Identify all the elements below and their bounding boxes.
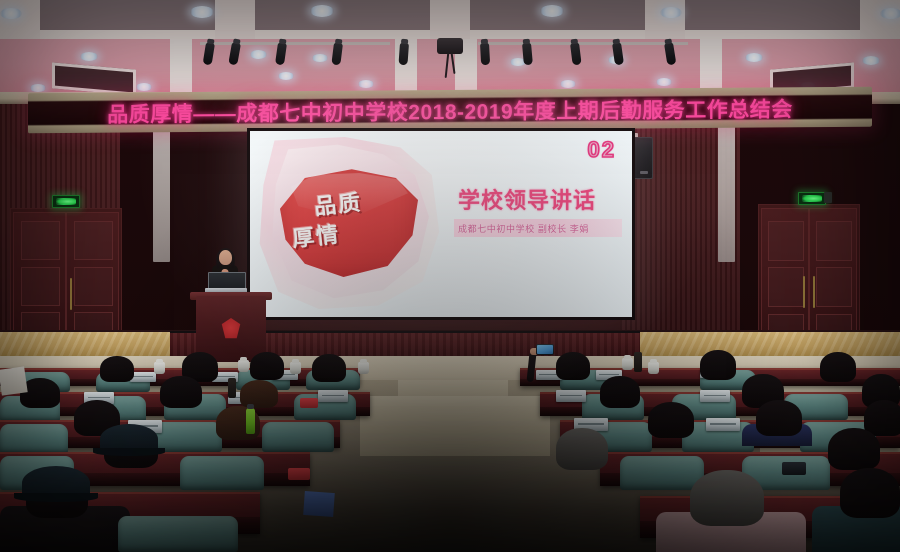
spotlight	[480, 43, 490, 65]
green-thermos	[246, 408, 255, 434]
name-plate	[556, 390, 586, 402]
downlight	[862, 56, 880, 65]
white-teacup	[290, 362, 301, 374]
spotlight	[522, 43, 533, 66]
audience-member	[840, 468, 900, 518]
speaker-logo	[640, 171, 648, 174]
door-panel	[74, 267, 112, 306]
downlight	[880, 8, 900, 19]
slide-subtitle: 成都七中初中学校 副校长 李娟	[458, 222, 624, 235]
white-teacup	[622, 358, 633, 370]
seat[interactable]	[118, 516, 238, 552]
spotlight	[664, 42, 676, 65]
spotlight	[203, 42, 215, 65]
seat[interactable]	[620, 456, 704, 490]
seat[interactable]	[262, 422, 334, 452]
phone-screen	[537, 345, 553, 354]
audience-member	[864, 400, 900, 436]
audience-member	[600, 376, 640, 408]
audience-member	[700, 350, 736, 380]
audience-member	[648, 402, 694, 438]
exit-sign-right	[798, 192, 826, 205]
door-handle[interactable]	[813, 276, 815, 308]
downlight	[310, 5, 334, 17]
stage-marble-panel	[0, 332, 175, 358]
slide-title: 学校领导讲话	[458, 183, 618, 215]
downlight	[358, 80, 374, 88]
downlight	[80, 52, 98, 61]
audience-member	[240, 380, 278, 408]
audience-member	[160, 376, 202, 408]
door-panel	[816, 221, 851, 261]
ceiling-coffer	[255, 0, 430, 30]
running-man-icon	[802, 195, 822, 202]
wall-light-strip	[153, 120, 170, 262]
name-plate	[318, 390, 348, 402]
door-handle[interactable]	[70, 278, 72, 309]
name-plate	[700, 390, 730, 402]
spotlight	[398, 43, 409, 66]
school-crest-icon	[220, 318, 242, 340]
presenter-head	[219, 250, 232, 265]
spotlight	[275, 42, 287, 65]
audience-member	[556, 428, 608, 470]
ceiling-vent	[52, 62, 136, 92]
door-panel	[816, 267, 851, 307]
downlight	[250, 50, 267, 59]
led-banner: 品质厚情——成都七中初中学校2018-2019年度上期后勤服务工作总结会	[28, 87, 872, 134]
downlight	[540, 5, 564, 17]
handout-paper	[0, 366, 28, 395]
door-panel	[74, 221, 112, 260]
phone-on-desk[interactable]	[288, 468, 310, 480]
downlight	[136, 83, 152, 91]
audience-member	[556, 352, 590, 380]
handout-paper	[303, 491, 335, 517]
downlight	[0, 8, 22, 19]
white-teacup	[358, 362, 369, 374]
door-panel	[768, 221, 803, 261]
water-bottle	[228, 378, 236, 398]
downlight	[312, 54, 328, 62]
ceiling-coffer	[685, 0, 860, 30]
auditorium-scene: 品质厚情——成都七中初中学校2018-2019年度上期后勤服务工作总结会 品质 …	[0, 0, 900, 552]
exit-sign-housing	[824, 192, 832, 203]
white-teacup	[154, 362, 165, 374]
seat[interactable]	[180, 456, 264, 490]
uniform-cap	[22, 466, 90, 500]
stage-marble-panel	[635, 332, 900, 358]
audience-member	[100, 356, 134, 382]
phone-on-desk[interactable]	[300, 398, 318, 408]
graphic-text-line2: 厚情	[290, 217, 341, 254]
slide-number: 02	[588, 137, 616, 163]
running-man-icon	[56, 198, 76, 205]
audience-member	[690, 470, 764, 526]
name-plate	[706, 418, 740, 431]
audience-member	[820, 352, 856, 382]
downlight	[278, 72, 294, 80]
spotlight	[331, 42, 343, 65]
downlight	[560, 80, 576, 88]
door-panel	[21, 221, 59, 260]
wall-light-strip	[718, 120, 735, 262]
ceiling-beam	[645, 0, 685, 39]
uniform-cap	[100, 424, 158, 454]
spotlight	[228, 42, 241, 65]
projection-screen: 品质 厚情 02 学校领导讲话 成都七中初中学校 副校长 李娟	[250, 131, 632, 317]
slide-torn-paper-graphic: 品质 厚情	[256, 137, 441, 309]
projector-cable	[445, 52, 450, 78]
seat[interactable]	[0, 424, 68, 454]
downlight	[660, 7, 682, 18]
exit-sign-left	[52, 195, 80, 208]
water-bottle	[634, 352, 642, 372]
ceiling-beam	[860, 0, 900, 39]
lighting-track	[478, 42, 688, 45]
audience-member	[250, 352, 284, 380]
lighting-track	[200, 42, 390, 45]
ceiling-beam	[215, 0, 255, 39]
ceiling-beam	[700, 39, 722, 92]
white-teacup	[238, 360, 249, 372]
center-aisle	[360, 396, 550, 456]
white-teacup	[648, 362, 659, 374]
audience-member	[756, 400, 802, 436]
ceiling-beam	[0, 0, 40, 39]
downlight	[656, 78, 672, 86]
ceiling-beam	[430, 0, 470, 39]
led-banner-text: 品质厚情——成都七中初中学校2018-2019年度上期后勤服务工作总结会	[28, 95, 872, 128]
door-panel	[21, 267, 59, 306]
phone-on-desk[interactable]	[782, 462, 806, 475]
spotlight	[570, 42, 582, 65]
downlight	[190, 6, 214, 18]
ceiling-beam	[170, 39, 192, 92]
raised-phone-camera[interactable]	[536, 344, 554, 355]
spotlight	[612, 42, 624, 65]
door-handle[interactable]	[803, 276, 805, 308]
audience-member	[828, 428, 880, 470]
ceiling-coffer	[40, 0, 215, 30]
door-panel	[768, 267, 803, 307]
downlight	[745, 53, 763, 62]
ceiling	[0, 0, 900, 92]
downlight	[30, 84, 46, 92]
projection-screen-frame: 品质 厚情 02 学校领导讲话 成都七中初中学校 副校长 李娟	[247, 128, 635, 320]
audience-member	[312, 354, 346, 382]
